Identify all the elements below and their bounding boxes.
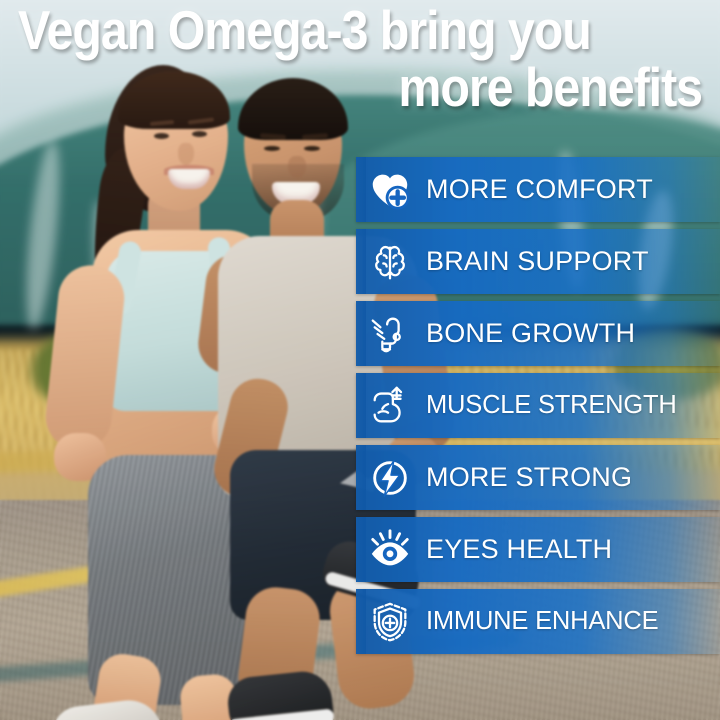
woman-eye [192, 131, 207, 137]
benefit-item-muscle-strength[interactable]: MUSCLE STRENGTH [356, 373, 720, 438]
benefit-label: MORE STRONG [426, 462, 632, 493]
lightning-bolt-icon [364, 452, 416, 504]
benefit-item-eyes-health[interactable]: EYES HEALTH [356, 517, 720, 582]
man-nose [288, 156, 306, 178]
benefit-item-immune-enhance[interactable]: IMMUNE ENHANCE [356, 589, 720, 654]
bicep-arrow-icon [364, 380, 416, 432]
man-eye [304, 146, 320, 151]
benefit-label: EYES HEALTH [426, 534, 612, 565]
shield-plus-icon [364, 596, 416, 648]
man-eye [264, 146, 280, 151]
benefit-item-brain-support[interactable]: BRAIN SUPPORT [356, 229, 720, 294]
eye-icon [364, 524, 416, 576]
benefits-list: MORE COMFORT BRAIN SUPPORT [356, 157, 720, 661]
poster-root: Vegan Omega-3 bring you more benefits MO… [0, 0, 720, 720]
benefit-label: IMMUNE ENHANCE [426, 607, 658, 636]
benefit-item-more-strong[interactable]: MORE STRONG [356, 445, 720, 510]
bone-joint-icon [364, 308, 416, 360]
benefit-label: MORE COMFORT [426, 174, 653, 205]
benefit-item-more-comfort[interactable]: MORE COMFORT [356, 157, 720, 222]
woman-eye [154, 133, 169, 139]
heart-plus-icon [364, 164, 416, 216]
brain-icon [364, 236, 416, 288]
woman-nose [178, 143, 194, 165]
benefit-item-bone-growth[interactable]: BONE GROWTH [356, 301, 720, 366]
benefit-label: BONE GROWTH [426, 318, 635, 349]
benefit-label: BRAIN SUPPORT [426, 246, 649, 277]
benefit-label: MUSCLE STRENGTH [426, 391, 677, 420]
man-hair [238, 78, 348, 140]
